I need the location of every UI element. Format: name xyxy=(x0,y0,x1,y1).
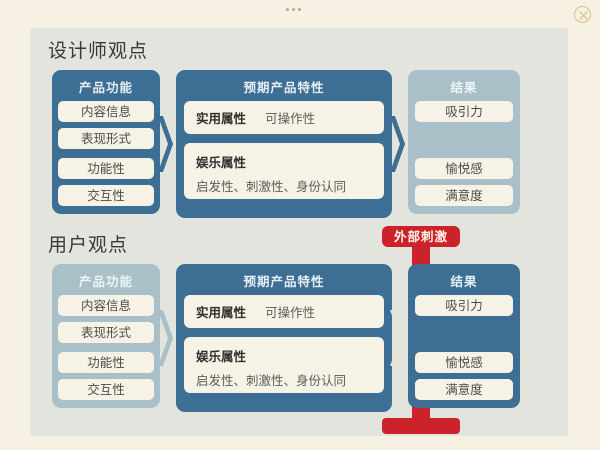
item-satisfaction[interactable]: 满意度 xyxy=(415,185,513,206)
column-header: 结果 xyxy=(408,264,520,290)
card-practical-attribute[interactable]: 实用属性 可操作性 xyxy=(184,295,384,328)
top-bar xyxy=(0,0,600,22)
item-functionality[interactable]: 功能性 xyxy=(58,352,154,373)
card-detail: 启发性、刺激性、身份认同 xyxy=(196,176,384,195)
card-practical-attribute[interactable]: 实用属性 可操作性 xyxy=(184,101,384,134)
chevron-right-icon xyxy=(390,116,406,172)
slide-root: 设计师观点 产品功能 内容信息 表现形式 功能性 交互性 预期产品特性 xyxy=(0,0,600,450)
column-header: 产品功能 xyxy=(52,70,160,96)
column-header: 产品功能 xyxy=(52,264,160,290)
item-satisfaction[interactable]: 满意度 xyxy=(415,379,513,400)
section-user-viewpoint: 用户观点 外部刺激 产品功能 内容信息 表现形式 功能性 交互性 xyxy=(30,222,568,436)
card-title: 实用属性 xyxy=(196,305,246,320)
item-content-info[interactable]: 内容信息 xyxy=(58,295,154,316)
content-panel: 设计师观点 产品功能 内容信息 表现形式 功能性 交互性 预期产品特性 xyxy=(30,28,568,436)
section-title: 设计师观点 xyxy=(48,36,148,63)
card-title: 娱乐属性 xyxy=(196,152,384,171)
card-title: 娱乐属性 xyxy=(196,346,384,365)
card-detail: 启发性、刺激性、身份认同 xyxy=(196,370,384,389)
column-header: 结果 xyxy=(408,70,520,96)
section-title: 用户观点 xyxy=(48,230,128,257)
chevron-right-icon xyxy=(158,310,174,366)
item-pleasure[interactable]: 愉悦感 xyxy=(415,158,513,179)
item-attractiveness[interactable]: 吸引力 xyxy=(415,101,513,122)
item-interactivity[interactable]: 交互性 xyxy=(58,185,154,206)
chevron-right-icon xyxy=(390,310,406,366)
item-pleasure[interactable]: 愉悦感 xyxy=(415,352,513,373)
card-detail: 可操作性 xyxy=(265,305,315,320)
section-designer-viewpoint: 设计师观点 产品功能 内容信息 表现形式 功能性 交互性 预期产品特性 xyxy=(30,28,568,233)
three-dots-icon[interactable] xyxy=(286,8,301,11)
close-circle-icon[interactable] xyxy=(574,6,591,23)
column-expected-characteristics[interactable]: 预期产品特性 实用属性 可操作性 娱乐属性 启发性、刺激性、身份认同 xyxy=(176,70,392,218)
item-functionality[interactable]: 功能性 xyxy=(58,158,154,179)
column-header: 预期产品特性 xyxy=(176,264,392,290)
column-header: 预期产品特性 xyxy=(176,70,392,96)
card-entertainment-attribute[interactable]: 娱乐属性 启发性、刺激性、身份认同 xyxy=(184,143,384,199)
item-attractiveness[interactable]: 吸引力 xyxy=(415,295,513,316)
card-title: 实用属性 xyxy=(196,111,246,126)
close-x-glyph xyxy=(578,10,589,21)
item-interactivity[interactable]: 交互性 xyxy=(58,379,154,400)
column-product-function[interactable]: 产品功能 内容信息 表现形式 功能性 交互性 xyxy=(52,264,160,408)
column-product-function[interactable]: 产品功能 内容信息 表现形式 功能性 交互性 xyxy=(52,70,160,214)
item-presentation-form[interactable]: 表现形式 xyxy=(58,322,154,343)
column-expected-characteristics[interactable]: 预期产品特性 实用属性 可操作性 娱乐属性 启发性、刺激性、身份认同 xyxy=(176,264,392,412)
flow-diagram: 产品功能 内容信息 表现形式 功能性 交互性 预期产品特性 实用属性 可操作性 xyxy=(52,70,552,218)
card-detail: 可操作性 xyxy=(265,111,315,126)
external-stimulus-base xyxy=(382,418,460,434)
flow-diagram: 产品功能 内容信息 表现形式 功能性 交互性 预期产品特性 实用属性 可操作性 xyxy=(52,264,552,412)
item-content-info[interactable]: 内容信息 xyxy=(58,101,154,122)
column-result[interactable]: 结果 吸引力 愉悦感 满意度 xyxy=(408,264,520,408)
item-presentation-form[interactable]: 表现形式 xyxy=(58,128,154,149)
card-entertainment-attribute[interactable]: 娱乐属性 启发性、刺激性、身份认同 xyxy=(184,337,384,393)
column-result[interactable]: 结果 吸引力 愉悦感 满意度 xyxy=(408,70,520,214)
chevron-right-icon xyxy=(158,116,174,172)
